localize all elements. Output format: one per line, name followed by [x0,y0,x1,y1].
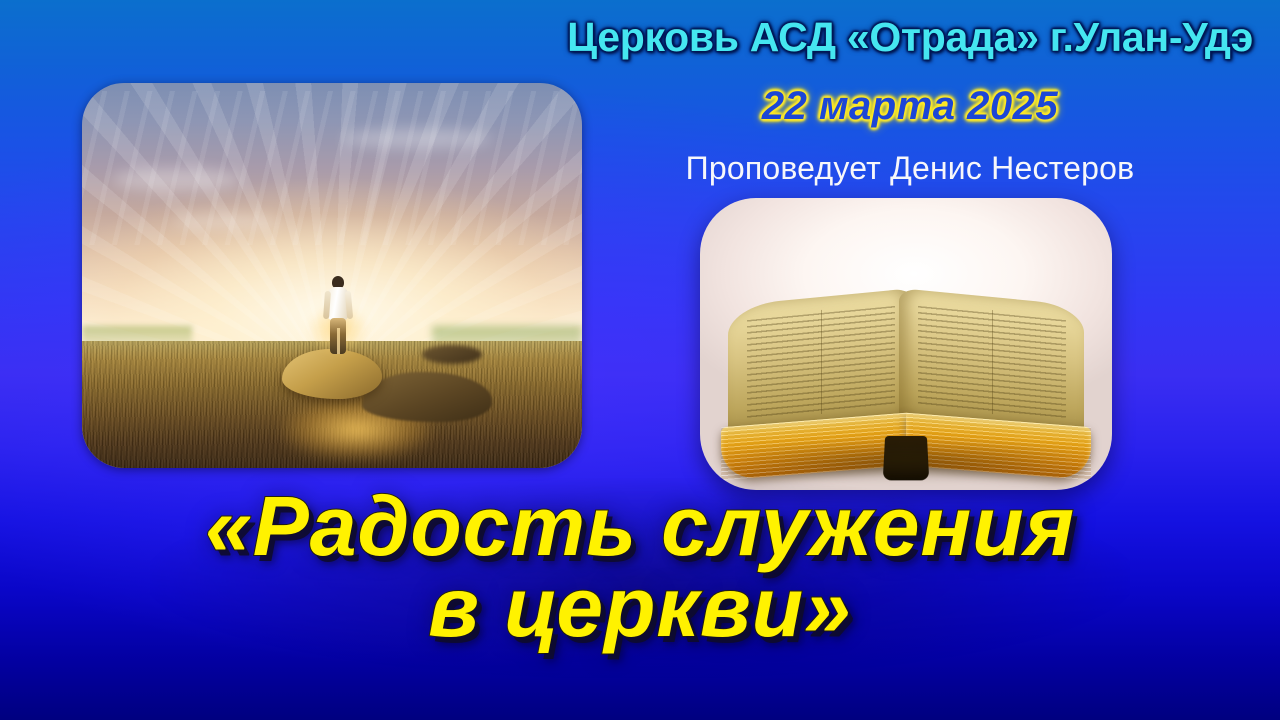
open-bible-icon [700,198,1112,490]
far-rock [422,345,482,364]
slide-canvas: Церковь АСД «Отрада» г.Улан-Удэ 22 марта… [0,0,1280,720]
bible-drop-shadow [716,440,1095,481]
sunrise-photo [82,83,582,468]
sermon-title-line-2: в церкви» [0,567,1280,648]
sermon-title: «Радость служения в церкви» [0,486,1280,647]
cloud-wisp [112,168,242,191]
church-name-heading: Церковь АСД «Отрада» г.Улан-Удэ [540,14,1280,61]
preacher-name: Проповедует Денис Нестеров [540,150,1280,187]
person-right-arm [345,291,353,319]
bible-column-rule [821,310,823,414]
bible-column-rule [991,311,993,415]
sermon-title-line-1: «Радость служения [0,486,1280,567]
person-leg-gap [337,328,340,354]
sermon-date: 22 марта 2025 [540,84,1280,129]
standing-person [323,276,353,354]
